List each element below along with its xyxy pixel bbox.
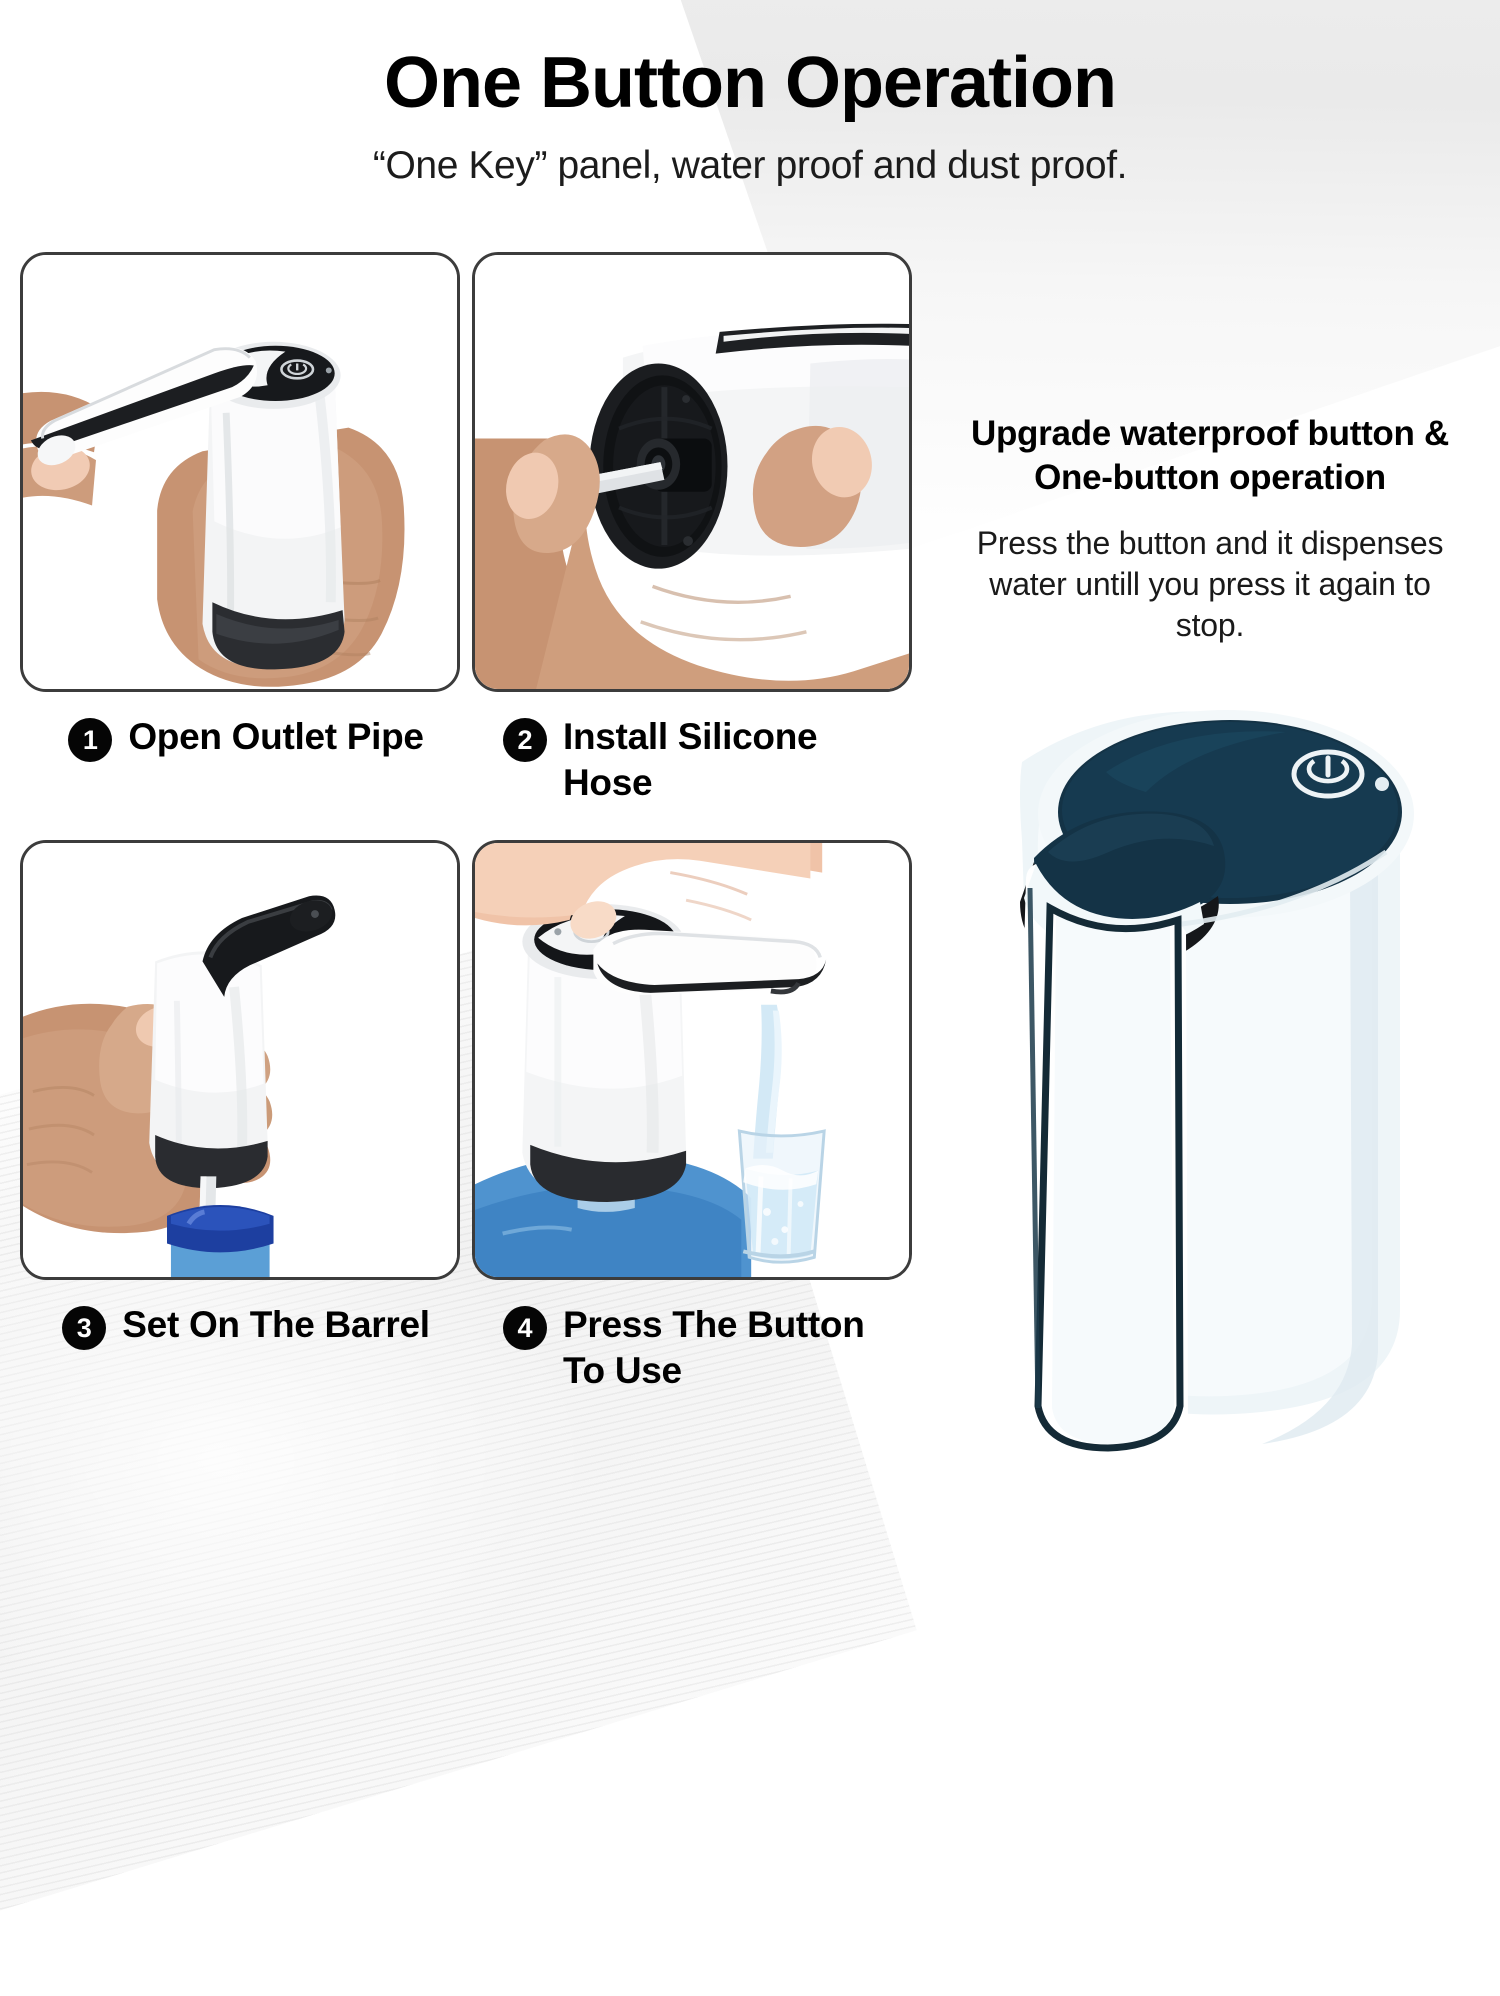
step-2-photo — [472, 252, 912, 692]
page-subtitle: “One Key” panel, water proof and dust pr… — [0, 144, 1500, 188]
step-3: 3 Set On The Barrel — [20, 840, 472, 1428]
step-3-label: Set On The Barrel — [122, 1302, 429, 1348]
step-2-label: Install Silicone Hose — [563, 714, 893, 806]
feature-heading-line-1: Upgrade waterproof button & — [946, 412, 1474, 456]
content-area: 1 Open Outlet Pipe — [0, 252, 1500, 1500]
water-bottle — [167, 1205, 274, 1277]
step-2-caption: 2 Install Silicone Hose — [472, 692, 924, 840]
step-1: 1 Open Outlet Pipe — [20, 252, 472, 840]
illustration-pump-top-closeup — [930, 652, 1490, 1492]
step-4-label: Press The Button To Use — [563, 1302, 893, 1394]
led-indicator — [326, 367, 332, 373]
illustration-set-on-barrel — [23, 843, 457, 1277]
illustration-open-outlet-pipe — [23, 255, 457, 689]
step-4-photo — [472, 840, 912, 1280]
outlet-pipe-arm — [593, 930, 826, 995]
illustration-press-button-to-use — [475, 843, 909, 1277]
feature-heading-line-2: One-button operation — [946, 456, 1474, 500]
step-1-photo — [20, 252, 460, 692]
step-3-badge: 3 — [62, 1306, 106, 1350]
feature-column: Upgrade waterproof button & One-button o… — [930, 252, 1490, 1500]
step-3-photo — [20, 840, 460, 1280]
hero-product-image — [930, 652, 1490, 1492]
infographic-page: One Button Operation “One Key” panel, wa… — [0, 0, 1500, 1500]
step-1-badge: 1 — [68, 718, 112, 762]
steps-grid: 1 Open Outlet Pipe — [20, 252, 925, 1428]
step-1-label: Open Outlet Pipe — [128, 714, 423, 760]
step-2: 2 Install Silicone Hose — [472, 252, 924, 840]
step-2-badge: 2 — [503, 718, 547, 762]
feature-heading: Upgrade waterproof button & One-button o… — [930, 252, 1490, 501]
steps-row-bottom: 3 Set On The Barrel — [20, 840, 925, 1428]
step-3-caption: 3 Set On The Barrel — [20, 1280, 472, 1428]
drinking-glass — [739, 1131, 824, 1262]
step-4-caption: 4 Press The Button To Use — [472, 1280, 924, 1428]
step-4: 4 Press The Button To Use — [472, 840, 924, 1428]
page-title: One Button Operation — [0, 46, 1500, 122]
led-indicator — [1375, 777, 1389, 791]
steps-row-top: 1 Open Outlet Pipe — [20, 252, 925, 840]
step-1-caption: 1 Open Outlet Pipe — [20, 692, 472, 840]
feature-description: Press the button and it dispenses water … — [930, 501, 1490, 646]
step-4-badge: 4 — [503, 1306, 547, 1350]
illustration-install-silicone-hose — [475, 255, 909, 689]
header: One Button Operation “One Key” panel, wa… — [0, 0, 1500, 188]
led-indicator — [554, 928, 561, 935]
